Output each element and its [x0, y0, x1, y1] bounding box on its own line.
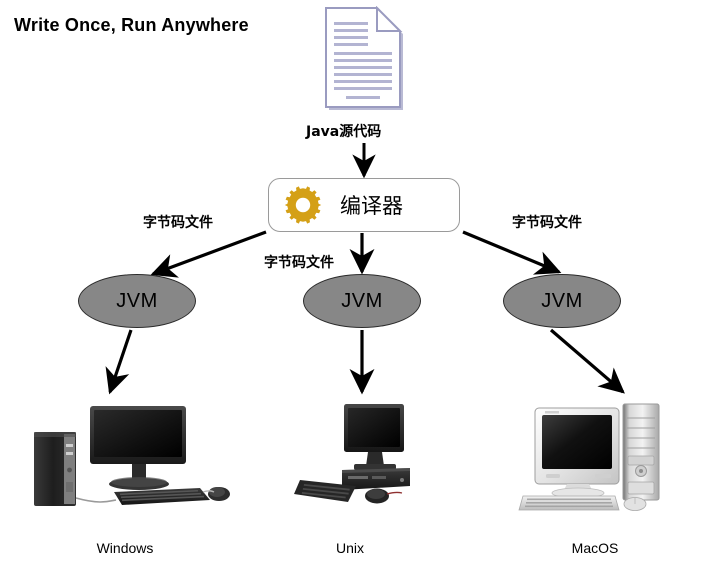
arrow-compiler-to-jvm-left: [153, 232, 266, 274]
platform-caption-unix: Unix: [305, 540, 395, 556]
desktop-computer-small-form-factor-icon: [292, 400, 416, 518]
bytecode-label-left: 字节码文件: [143, 212, 213, 232]
jvm-node-windows[interactable]: JVM: [78, 274, 196, 328]
page-title: Write Once, Run Anywhere: [14, 15, 249, 36]
bytecode-label-center: 字节码文件: [264, 252, 334, 272]
diagram-canvas: Write Once, Run Anywhere: [0, 0, 702, 569]
compiler-node[interactable]: 编译器: [268, 178, 460, 232]
jvm-label: JVM: [541, 290, 583, 313]
jvm-node-unix[interactable]: JVM: [303, 274, 421, 328]
desktop-computer-beige-tower-icon: [515, 398, 665, 520]
jvm-label: JVM: [341, 290, 383, 313]
jvm-label: JVM: [116, 290, 158, 313]
arrow-compiler-to-jvm-right: [463, 232, 559, 272]
gear-icon: [283, 185, 323, 225]
arrow-jvm-right-to-macos: [551, 330, 623, 392]
source-code-label: Java源代码: [306, 121, 381, 141]
document-icon: [320, 6, 408, 114]
desktop-computer-black-icon: [28, 400, 240, 518]
jvm-node-macos[interactable]: JVM: [503, 274, 621, 328]
platform-caption-windows: Windows: [80, 540, 170, 556]
arrow-jvm-left-to-windows: [110, 330, 131, 392]
compiler-label: 编译器: [340, 190, 403, 220]
bytecode-label-right: 字节码文件: [512, 212, 582, 232]
platform-caption-macos: MacOS: [550, 540, 640, 556]
